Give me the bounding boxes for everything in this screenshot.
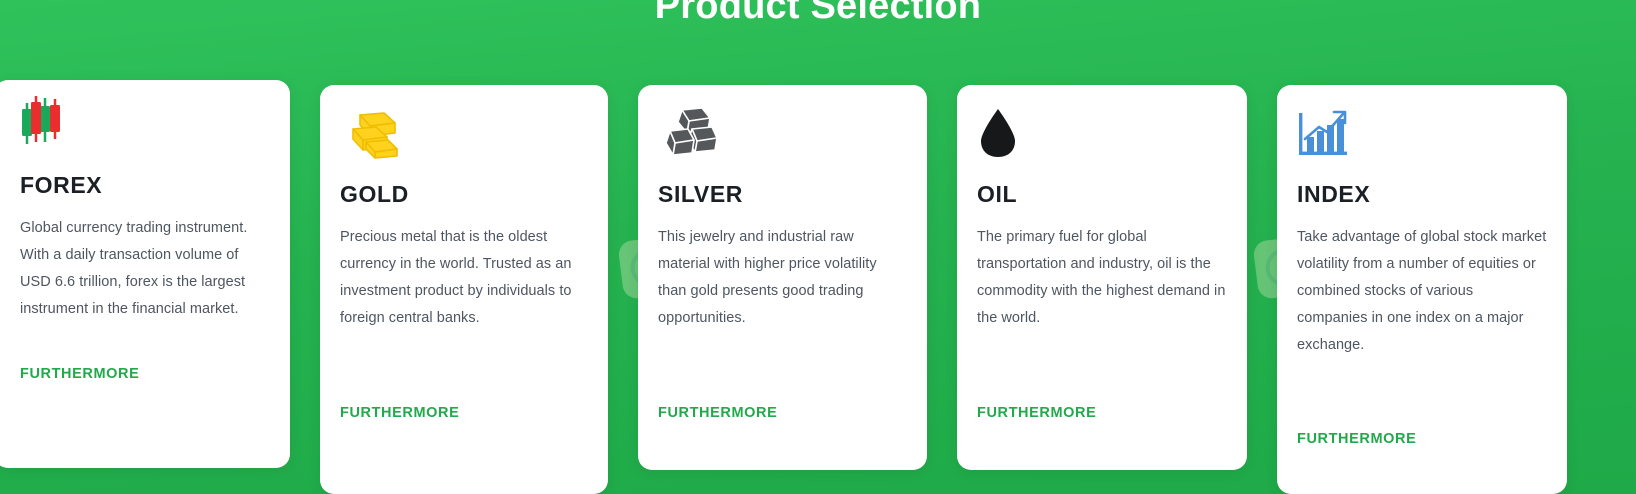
furthermore-link[interactable]: FURTHERMORE	[1297, 431, 1416, 447]
product-card-gold[interactable]: GOLD Precious metal that is the oldest c…	[320, 85, 608, 494]
card-title: FOREX	[20, 172, 270, 199]
card-description: Precious metal that is the oldest curren…	[340, 224, 588, 332]
product-selection-section: Product Selection WikiFX WikiFX WikiFX	[0, 0, 1636, 494]
product-card-oil[interactable]: OIL The primary fuel for global transpor…	[957, 85, 1247, 470]
furthermore-link[interactable]: FURTHERMORE	[20, 366, 139, 382]
card-description: This jewelry and industrial raw material…	[658, 224, 907, 332]
product-card-forex[interactable]: FOREX Global currency trading instrument…	[0, 80, 290, 468]
candlestick-chart-icon	[20, 80, 270, 154]
product-card-index[interactable]: INDEX Take advantage of global stock mar…	[1277, 85, 1567, 494]
furthermore-link[interactable]: FURTHERMORE	[340, 405, 459, 421]
card-title: INDEX	[1297, 181, 1547, 208]
card-description: The primary fuel for global transportati…	[977, 224, 1227, 332]
oil-droplet-icon	[977, 85, 1227, 163]
bar-chart-trend-icon	[1297, 85, 1547, 163]
gold-bars-icon	[340, 85, 588, 163]
furthermore-link[interactable]: FURTHERMORE	[977, 405, 1096, 421]
card-description: Global currency trading instrument. With…	[20, 215, 270, 323]
card-title: SILVER	[658, 181, 907, 208]
furthermore-link[interactable]: FURTHERMORE	[658, 405, 777, 421]
page-title: Product Selection	[0, 0, 1636, 34]
card-title: GOLD	[340, 181, 588, 208]
silver-bars-icon	[658, 85, 907, 163]
card-description: Take advantage of global stock market vo…	[1297, 224, 1547, 359]
product-card-silver[interactable]: SILVER This jewelry and industrial raw m…	[638, 85, 927, 470]
card-title: OIL	[977, 181, 1227, 208]
